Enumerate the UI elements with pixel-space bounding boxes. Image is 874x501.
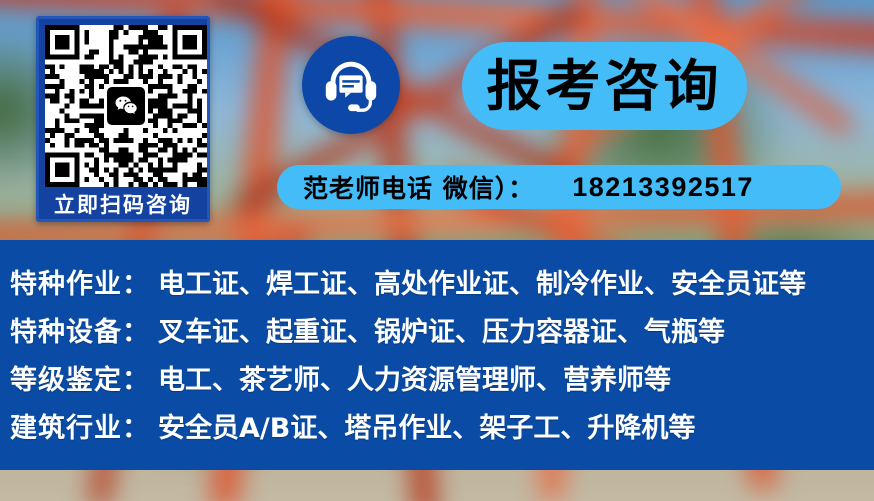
qr-code-card[interactable]: 立即扫码咨询 [36, 16, 210, 222]
info-row: 特种作业： 电工证、焊工证、高处作业证、制冷作业、安全员证等 [10, 262, 874, 310]
contact-label: 范老师电话 微信）： [303, 169, 534, 205]
contact-pill[interactable]: 范老师电话 微信）： 18213392517 [277, 165, 841, 209]
info-row-items: 叉车证、起重证、锅炉证、压力容器证、气瓶等 [158, 310, 725, 349]
page-title: 报考咨询 [486, 59, 722, 114]
qr-caption: 立即扫码咨询 [45, 187, 201, 223]
contact-number[interactable]: 18213392517 [572, 172, 754, 203]
qr-code-image[interactable] [45, 25, 207, 187]
info-row: 特种设备： 叉车证、起重证、锅炉证、压力容器证、气瓶等 [10, 310, 874, 358]
info-row-category: 特种设备： [10, 310, 158, 349]
info-row-category: 建筑行业： [10, 406, 158, 445]
certificate-list-panel: 特种作业： 电工证、焊工证、高处作业证、制冷作业、安全员证等 特种设备： 叉车证… [0, 240, 874, 470]
info-row-category: 特种作业： [10, 262, 158, 301]
info-row-items: 电工证、焊工证、高处作业证、制冷作业、安全员证等 [158, 262, 806, 301]
info-row-items: 安全员A/B证、塔吊作业、架子工、升降机等 [158, 406, 695, 445]
info-row-category: 等级鉴定： [10, 358, 158, 397]
info-row: 等级鉴定： 电工、茶艺师、人力资源管理师、营养师等 [10, 358, 874, 406]
info-row: 建筑行业： 安全员A/B证、塔吊作业、架子工、升降机等 [10, 406, 874, 454]
info-row-items: 电工、茶艺师、人力资源管理师、营养师等 [158, 358, 671, 397]
promo-banner: 立即扫码咨询 报考咨询 范老师电话 微信）： 18213392517 特种作业：… [0, 0, 874, 501]
title-pill: 报考咨询 [462, 42, 747, 130]
headset-support-icon [302, 36, 400, 134]
wechat-icon [107, 87, 145, 125]
